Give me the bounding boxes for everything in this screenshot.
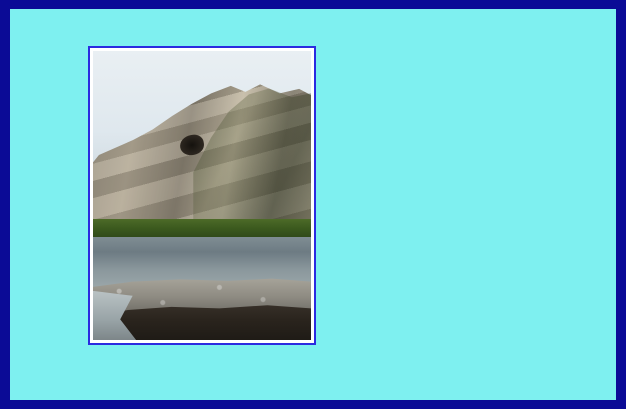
poem-card-page [0,0,626,409]
landscape-photo [93,51,311,340]
photo-grass-bank [93,219,311,239]
photo-frame [88,46,316,345]
poem-block [352,50,568,68]
photo-river [93,237,311,286]
